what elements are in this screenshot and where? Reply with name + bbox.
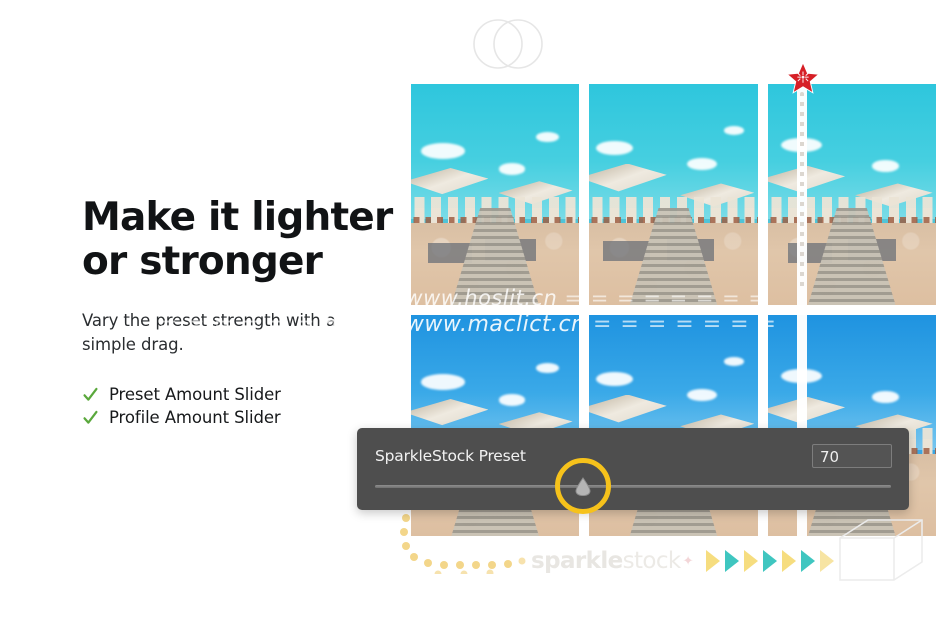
brand-logo: sparklestock ✦ bbox=[531, 548, 834, 574]
slider-handle-teardrop-icon[interactable] bbox=[575, 477, 591, 496]
slider-label: SparkleStock Preset bbox=[375, 447, 526, 465]
list-item: Preset Amount Slider bbox=[82, 385, 382, 404]
check-icon bbox=[82, 386, 99, 403]
triangle-3 bbox=[744, 550, 758, 572]
sparkle-star-icon: ✦ bbox=[683, 553, 694, 569]
beach-photo-1 bbox=[411, 84, 579, 305]
triangle-7 bbox=[820, 550, 834, 572]
preset-slider-panel: SparkleStock Preset 70 bbox=[357, 428, 909, 510]
hexagon-outline-decoration bbox=[826, 516, 936, 588]
beach-photo-2 bbox=[589, 84, 757, 305]
page-title: Make it lighter or stronger bbox=[82, 196, 382, 285]
brand-wordmark: sparklestock bbox=[531, 548, 681, 574]
slider-value-text: 70 bbox=[820, 448, 839, 466]
subtitle-line-2: simple drag. bbox=[82, 333, 382, 357]
brand-word-bold: sparkle bbox=[531, 548, 623, 574]
red-star-icon[interactable] bbox=[786, 61, 820, 95]
slider-value-input[interactable]: 70 bbox=[812, 444, 892, 468]
subtitle: Vary the preset strength with a simple d… bbox=[82, 309, 382, 357]
triangle-5 bbox=[782, 550, 796, 572]
feature-label: Preset Amount Slider bbox=[109, 385, 281, 404]
headline-line-1: Make it lighter bbox=[82, 196, 382, 240]
brand-word-light: stock bbox=[623, 548, 681, 574]
headline-line-2: or stronger bbox=[82, 240, 382, 284]
triangle-1 bbox=[706, 550, 720, 572]
triangle-strip bbox=[706, 550, 834, 572]
compare-divider-dots bbox=[800, 92, 804, 292]
photo-row-original bbox=[411, 84, 936, 305]
triangle-4 bbox=[763, 550, 777, 572]
feature-list: Preset Amount Slider Profile Amount Slid… bbox=[82, 385, 382, 427]
slide-canvas: Make it lighter or stronger Vary the pre… bbox=[0, 0, 936, 625]
beach-mat bbox=[603, 241, 650, 261]
triangle-2 bbox=[725, 550, 739, 572]
slider-track[interactable] bbox=[375, 485, 891, 488]
subtitle-line-1: Vary the preset strength with a bbox=[82, 309, 382, 333]
feature-label: Profile Amount Slider bbox=[109, 408, 281, 427]
check-icon bbox=[82, 409, 99, 426]
triangle-6 bbox=[801, 550, 815, 572]
beach-photo-3 bbox=[768, 84, 936, 305]
list-item: Profile Amount Slider bbox=[82, 408, 382, 427]
copy-column: Make it lighter or stronger Vary the pre… bbox=[82, 196, 382, 431]
overlapping-circles-icon bbox=[472, 16, 544, 72]
